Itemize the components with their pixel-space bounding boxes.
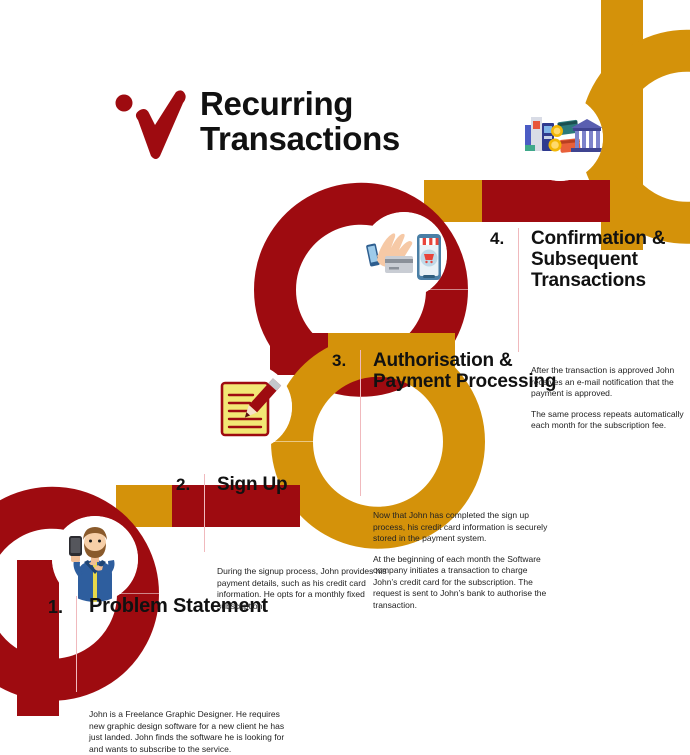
step-4-divider bbox=[518, 228, 519, 352]
page-title-line2: Transactions bbox=[200, 121, 400, 156]
step-3-body: Now that John has completed the sign up … bbox=[373, 510, 551, 611]
page-title-block: Recurring Transactions bbox=[112, 86, 400, 162]
hand-card-phone-icon bbox=[361, 212, 447, 298]
step-4-number: 4. bbox=[490, 228, 518, 250]
step-4-title-line1: Confirmation & bbox=[531, 228, 665, 249]
node-2-icon-circle bbox=[206, 364, 292, 450]
node-1-icon-circle bbox=[52, 516, 138, 602]
step-4-heading: 4. Confirmation & Subsequent Transaction… bbox=[490, 228, 690, 352]
step-1-number: 1. bbox=[48, 596, 76, 618]
step-3-divider bbox=[360, 350, 361, 496]
step-4-title: Confirmation & Subsequent Transactions bbox=[531, 228, 665, 291]
node-3-icon-circle bbox=[361, 212, 447, 298]
step-3-paragraph-1: Now that John has completed the sign up … bbox=[373, 510, 551, 545]
step-4-paragraph-2: The same process repeats automatically e… bbox=[531, 409, 690, 432]
step-1-divider bbox=[76, 596, 77, 692]
step-4-paragraph-1: After the transaction is approved John r… bbox=[531, 365, 690, 400]
node-4-icon-circle bbox=[517, 95, 603, 181]
notepad-pencil-icon bbox=[206, 364, 292, 450]
man-with-phone-icon bbox=[52, 516, 138, 602]
page-title-line1: Recurring bbox=[200, 85, 353, 122]
page-title: Recurring Transactions bbox=[200, 86, 400, 156]
step-1-block: 1. Problem Statement John is a Freelance… bbox=[48, 596, 348, 755]
step-2-divider bbox=[204, 474, 205, 552]
atm-cards-bank-icon bbox=[517, 95, 603, 181]
step-2-title: Sign Up bbox=[217, 474, 287, 495]
step-3-paragraph-2: At the beginning of each month the Softw… bbox=[373, 554, 551, 612]
step-4-block: 4. Confirmation & Subsequent Transaction… bbox=[490, 228, 690, 432]
step-4-body: After the transaction is approved John r… bbox=[531, 365, 690, 432]
step-3-number: 3. bbox=[332, 350, 360, 372]
step-2-number: 2. bbox=[176, 474, 204, 496]
checkmark-icon bbox=[112, 90, 192, 162]
step-4-title-line2: Subsequent bbox=[531, 249, 638, 270]
infographic-canvas: Recurring Transactions 1. Problem Statem… bbox=[0, 0, 690, 716]
step-4-title-line3: Transactions bbox=[531, 270, 646, 291]
